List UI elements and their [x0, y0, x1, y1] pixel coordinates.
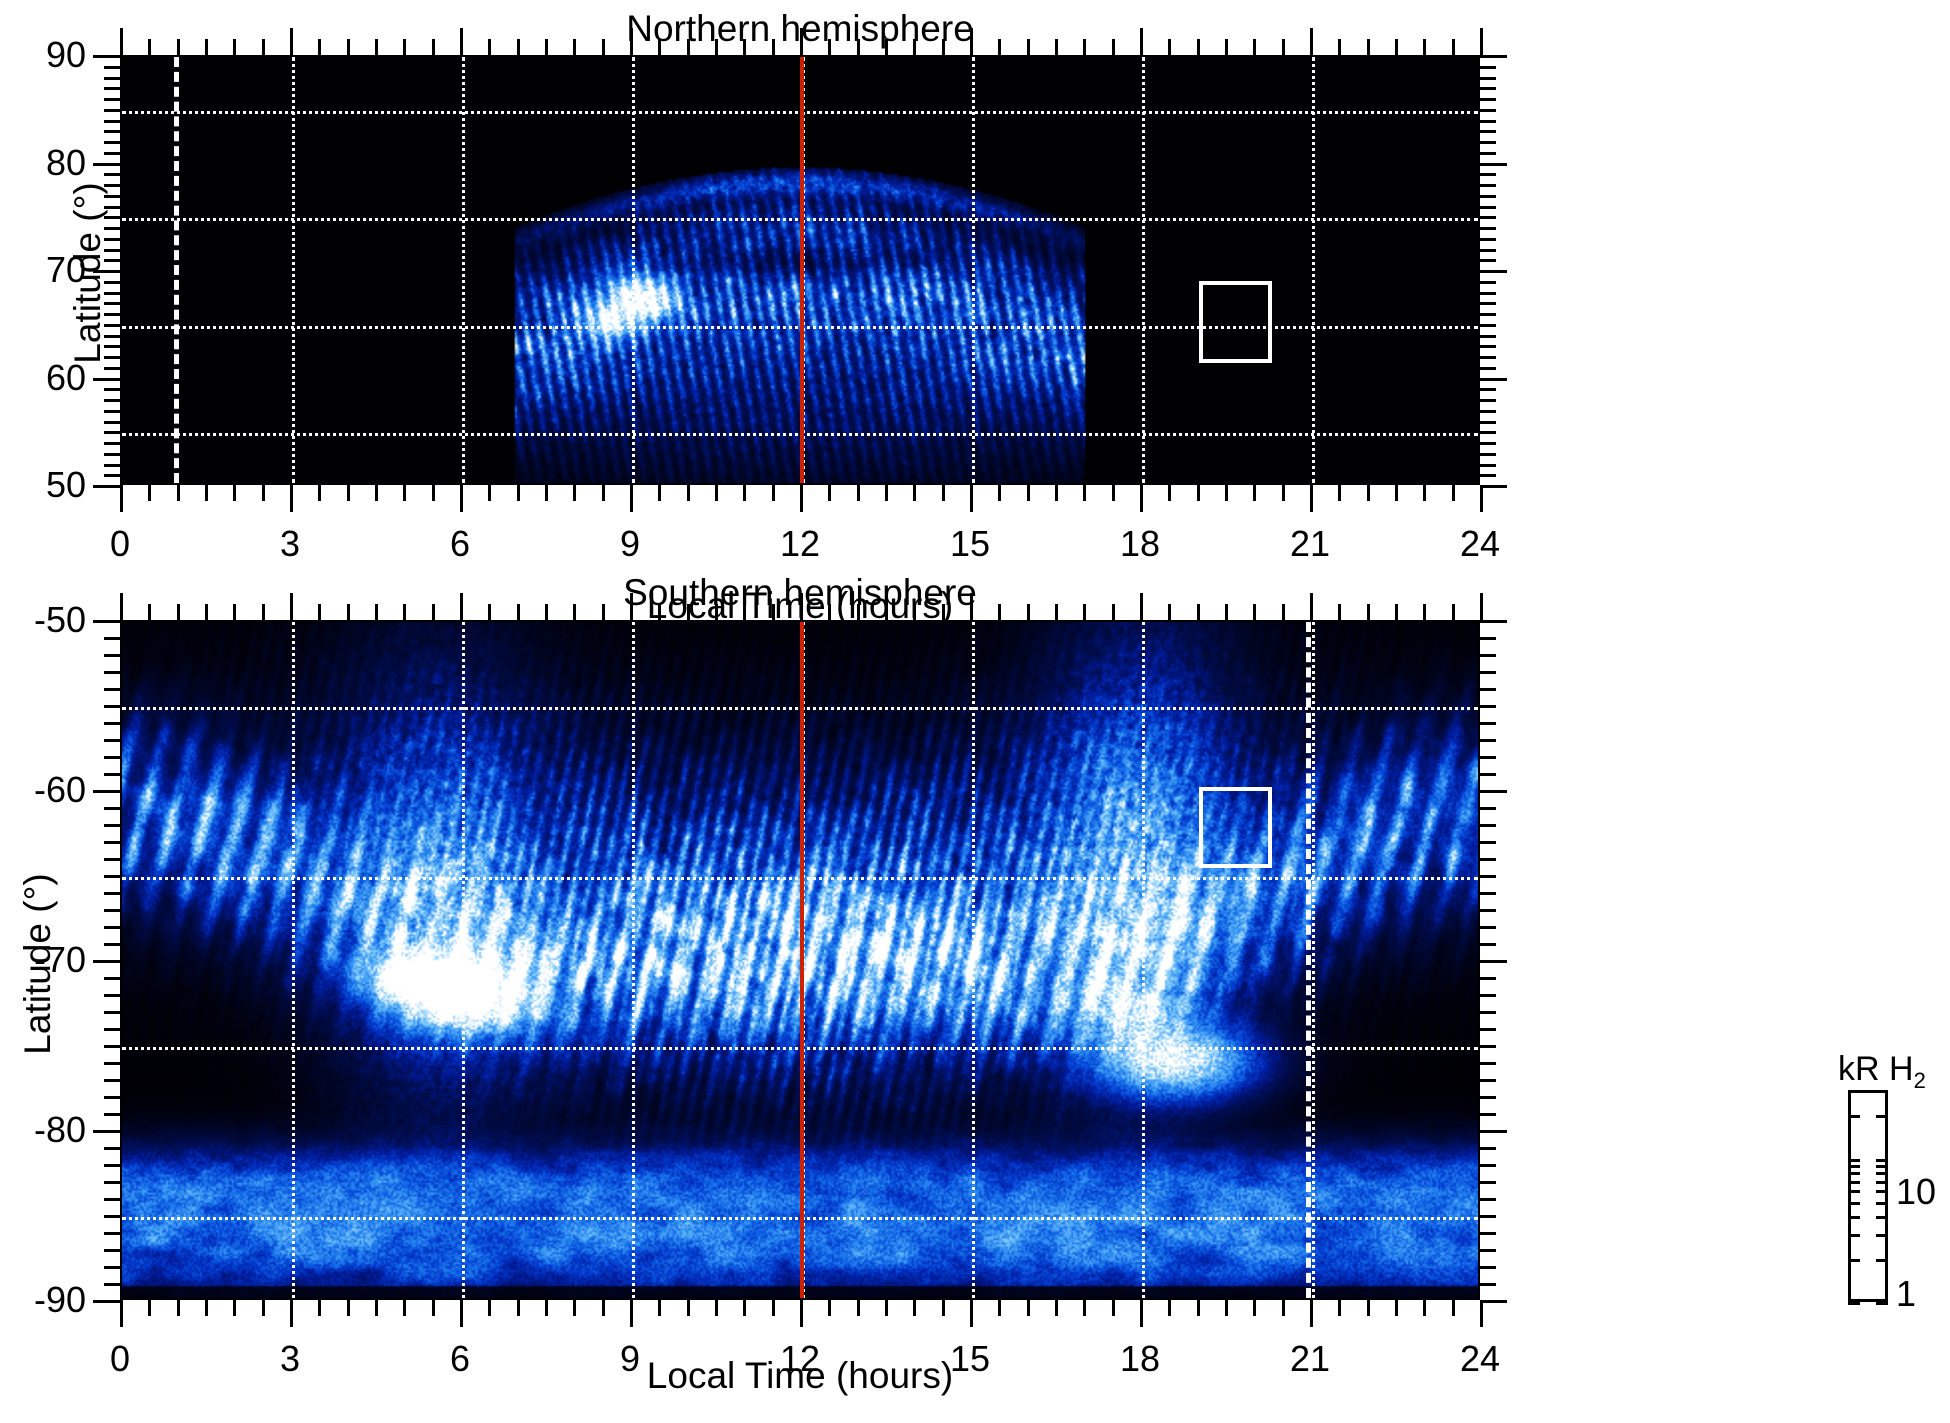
- xaxis-tick-bottom: [1310, 485, 1313, 512]
- yaxis-tick-right: [1480, 313, 1496, 316]
- yaxis-tick-label: -60: [0, 769, 86, 811]
- xaxis-tick-bottom: [1055, 485, 1058, 501]
- yaxis-tick-left: [104, 1283, 120, 1286]
- xaxis-tick-bottom: [1480, 1300, 1483, 1327]
- xaxis-tick-bottom: [545, 485, 548, 501]
- yaxis-tick-left: [104, 926, 120, 929]
- yaxis-tick-right: [1480, 335, 1496, 338]
- yaxis-tick-left: [104, 892, 120, 895]
- xaxis-tick-bottom: [1480, 485, 1483, 512]
- yaxis-tick-label: 60: [0, 357, 86, 399]
- yaxis-tick-right: [1480, 163, 1507, 166]
- xaxis-tick-bottom: [1168, 1300, 1171, 1316]
- xaxis-tick-bottom: [743, 485, 746, 501]
- yaxis-tick-right: [1480, 739, 1496, 742]
- yaxis-tick-right: [1480, 431, 1496, 434]
- yaxis-tick-left: [104, 1266, 120, 1269]
- xaxis-tick-bottom: [1083, 1300, 1086, 1316]
- xaxis-tick-bottom: [1253, 485, 1256, 501]
- yaxis-tick-left: [104, 474, 120, 477]
- xaxis-tick-bottom: [998, 485, 1001, 501]
- yaxis-tick-label: -80: [0, 1109, 86, 1151]
- yaxis-tick-left: [104, 1164, 120, 1167]
- colorbar-minor-tick: [1848, 1234, 1860, 1237]
- yaxis-tick-right: [1480, 292, 1496, 295]
- yaxis-tick-right: [1480, 378, 1507, 381]
- yaxis-tick-left: [104, 773, 120, 776]
- colorbar-minor-tick: [1876, 1202, 1888, 1205]
- colorbar-title-subscript: 2: [1914, 1068, 1926, 1093]
- xaxis-tick-bottom: [120, 485, 123, 512]
- xaxis-tick-bottom: [800, 1300, 803, 1327]
- colorbar-minor-tick: [1876, 1234, 1888, 1237]
- yaxis-tick-right: [1480, 875, 1496, 878]
- xaxis-tick-bottom: [913, 1300, 916, 1316]
- yaxis-tick-right: [1480, 442, 1496, 445]
- yaxis-tick-right: [1480, 909, 1496, 912]
- xaxis-tick-bottom: [1423, 485, 1426, 501]
- yaxis-tick-label: -50: [0, 599, 86, 641]
- xaxis-tick-bottom: [1112, 485, 1115, 501]
- yaxis-tick-left: [93, 485, 120, 488]
- xaxis-tick-bottom: [1367, 1300, 1370, 1316]
- yaxis-tick-left: [104, 977, 120, 980]
- yaxis-tick-right: [1480, 388, 1496, 391]
- colorbar-minor-tick: [1876, 1216, 1888, 1219]
- xaxis-tick-bottom: [828, 485, 831, 501]
- colorbar-minor-tick: [1848, 1259, 1860, 1262]
- yaxis-tick-left: [104, 77, 120, 80]
- yaxis-tick-left: [104, 841, 120, 844]
- xaxis-tick-bottom: [942, 485, 945, 501]
- southern-plot-area: [120, 620, 1480, 1300]
- yaxis-tick-right: [1480, 705, 1496, 708]
- xaxis-tick-bottom: [1055, 1300, 1058, 1316]
- colorbar-minor-tick: [1848, 1216, 1860, 1219]
- yaxis-tick-left: [104, 431, 120, 434]
- xaxis-tick-label: 12: [780, 523, 820, 565]
- xaxis-tick-bottom: [1197, 1300, 1200, 1316]
- yaxis-tick-left: [104, 637, 120, 640]
- xaxis-tick-bottom: [205, 485, 208, 501]
- northern-panel-title: Northern hemisphere: [120, 8, 1480, 50]
- xaxis-tick-bottom: [262, 1300, 265, 1316]
- xaxis-tick-bottom: [1395, 485, 1398, 501]
- xaxis-tick-label: 21: [1290, 523, 1330, 565]
- yaxis-tick-right: [1480, 1062, 1496, 1065]
- yaxis-tick-right: [1480, 367, 1496, 370]
- xaxis-tick-bottom: [857, 485, 860, 501]
- yaxis-tick-right: [1480, 206, 1496, 209]
- gridline-vertical: [1142, 57, 1145, 483]
- yaxis-tick-right: [1480, 66, 1496, 69]
- xaxis-tick-bottom: [1027, 485, 1030, 501]
- xaxis-tick-bottom: [375, 1300, 378, 1316]
- xaxis-tick-bottom: [1282, 485, 1285, 501]
- xaxis-tick-label: 24: [1460, 523, 1500, 565]
- xaxis-tick-bottom: [630, 485, 633, 512]
- xaxis-tick-bottom: [318, 1300, 321, 1316]
- yaxis-tick-right: [1480, 841, 1496, 844]
- colorbar-minor-tick: [1848, 1190, 1860, 1193]
- yaxis-tick-right: [1480, 399, 1496, 402]
- xaxis-tick-bottom: [715, 1300, 718, 1316]
- xaxis-tick-label: 9: [620, 1338, 640, 1380]
- gridline-vertical: [972, 622, 975, 1298]
- yaxis-tick-right: [1480, 824, 1496, 827]
- yaxis-tick-right: [1480, 130, 1496, 133]
- xaxis-tick-bottom: [403, 1300, 406, 1316]
- yaxis-tick-left: [104, 1096, 120, 1099]
- yaxis-tick-right: [1480, 977, 1496, 980]
- colorbar-minor-tick: [1876, 1159, 1888, 1162]
- yaxis-tick-right: [1480, 790, 1507, 793]
- colorbar-label-10: 10: [1896, 1171, 1936, 1213]
- xaxis-tick-bottom: [1083, 485, 1086, 501]
- colorbar-minor-tick: [1876, 1259, 1888, 1262]
- yaxis-tick-right: [1480, 87, 1496, 90]
- xaxis-tick-bottom: [290, 485, 293, 512]
- colorbar-title-sub-wrap: 2: [1914, 1050, 1926, 1088]
- yaxis-tick-left: [93, 620, 120, 623]
- yaxis-tick-right: [1480, 55, 1507, 58]
- xaxis-tick-bottom: [1168, 485, 1171, 501]
- region-of-interest-box: [1199, 787, 1273, 869]
- yaxis-tick-right: [1480, 1045, 1496, 1048]
- xaxis-tick-bottom: [772, 1300, 775, 1316]
- yaxis-tick-right: [1480, 238, 1496, 241]
- colorbar-minor-tick: [1848, 1115, 1860, 1118]
- yaxis-tick-left: [93, 790, 120, 793]
- yaxis-tick-right: [1480, 109, 1496, 112]
- yaxis-tick-left: [104, 1147, 120, 1150]
- yaxis-tick-right: [1480, 474, 1496, 477]
- yaxis-tick-label: 90: [0, 34, 86, 76]
- xaxis-tick-bottom: [347, 1300, 350, 1316]
- yaxis-tick-right: [1480, 1079, 1496, 1082]
- xaxis-tick-bottom: [262, 485, 265, 501]
- xaxis-tick-bottom: [630, 1300, 633, 1327]
- yaxis-tick-left: [104, 1232, 120, 1235]
- colorbar-minor-tick: [1876, 1172, 1888, 1175]
- northern-plot-area: [120, 55, 1480, 485]
- colorbar-label-1: 1: [1896, 1273, 1916, 1315]
- yaxis-tick-right: [1480, 1113, 1496, 1116]
- xaxis-tick-bottom: [177, 1300, 180, 1316]
- yaxis-tick-right: [1480, 926, 1496, 929]
- xaxis-tick-label: 3: [280, 523, 300, 565]
- xaxis-tick-bottom: [432, 485, 435, 501]
- xaxis-tick-bottom: [1225, 485, 1228, 501]
- yaxis-tick-right: [1480, 270, 1507, 273]
- colorbar-title-text: kR H: [1838, 1050, 1914, 1088]
- yaxis-tick-right: [1480, 453, 1496, 456]
- yaxis-tick-right: [1480, 345, 1496, 348]
- gridline-vertical: [292, 57, 295, 483]
- xaxis-tick-bottom: [347, 485, 350, 501]
- xaxis-tick-bottom: [942, 1300, 945, 1316]
- xaxis-tick-label: 6: [450, 523, 470, 565]
- yaxis-tick-right: [1480, 281, 1496, 284]
- yaxis-tick-right: [1480, 195, 1496, 198]
- colorbar-ticks: [1848, 1090, 1888, 1302]
- xaxis-tick-bottom: [772, 485, 775, 501]
- xaxis-tick-label: 15: [950, 1338, 990, 1380]
- yaxis-tick-left: [104, 688, 120, 691]
- figure-root: Northern hemisphere Local Time (hours) L…: [0, 0, 1950, 1423]
- yaxis-tick-left: [104, 739, 120, 742]
- terminator-dashed-line: [174, 57, 179, 483]
- xaxis-tick-label: 24: [1460, 1338, 1500, 1380]
- yaxis-tick-left: [104, 943, 120, 946]
- yaxis-tick-right: [1480, 671, 1496, 674]
- yaxis-tick-right: [1480, 184, 1496, 187]
- yaxis-tick-right: [1480, 1028, 1496, 1031]
- xaxis-tick-label: 0: [110, 1338, 130, 1380]
- xaxis-tick-bottom: [177, 485, 180, 501]
- xaxis-tick-bottom: [658, 1300, 661, 1316]
- xaxis-tick-bottom: [998, 1300, 1001, 1316]
- yaxis-tick-left: [104, 671, 120, 674]
- xaxis-tick-label: 18: [1120, 523, 1160, 565]
- yaxis-tick-left: [104, 756, 120, 759]
- xaxis-tick-label: 6: [450, 1338, 470, 1380]
- xaxis-tick-label: 9: [620, 523, 640, 565]
- xaxis-tick-bottom: [885, 1300, 888, 1316]
- yaxis-tick-left: [104, 1028, 120, 1031]
- yaxis-tick-left: [104, 1181, 120, 1184]
- yaxis-tick-right: [1480, 807, 1496, 810]
- yaxis-tick-label: -70: [0, 939, 86, 981]
- colorbar-minor-tick: [1848, 1181, 1860, 1184]
- yaxis-tick-right: [1480, 1011, 1496, 1014]
- xaxis-tick-bottom: [403, 485, 406, 501]
- yaxis-tick-right: [1480, 688, 1496, 691]
- xaxis-tick-label: 18: [1120, 1338, 1160, 1380]
- xaxis-tick-bottom: [1253, 1300, 1256, 1316]
- xaxis-tick-bottom: [375, 485, 378, 501]
- xaxis-tick-bottom: [885, 485, 888, 501]
- xaxis-tick-bottom: [970, 1300, 973, 1327]
- yaxis-tick-right: [1480, 259, 1496, 262]
- yaxis-tick-left: [104, 858, 120, 861]
- yaxis-tick-right: [1480, 77, 1496, 80]
- yaxis-tick-left: [104, 464, 120, 467]
- xaxis-tick-bottom: [1197, 485, 1200, 501]
- yaxis-tick-left: [104, 453, 120, 456]
- xaxis-tick-bottom: [517, 485, 520, 501]
- yaxis-tick-right: [1480, 722, 1496, 725]
- colorbar-minor-tick: [1848, 1172, 1860, 1175]
- xaxis-tick-bottom: [573, 485, 576, 501]
- colorbar-minor-tick: [1876, 1302, 1888, 1305]
- region-of-interest-box: [1199, 281, 1273, 364]
- xaxis-tick-bottom: [602, 485, 605, 501]
- xaxis-tick-label: 21: [1290, 1338, 1330, 1380]
- colorbar-minor-tick: [1876, 1090, 1888, 1093]
- gridline-vertical: [462, 622, 465, 1298]
- yaxis-tick-right: [1480, 1130, 1507, 1133]
- yaxis-tick-left: [104, 1113, 120, 1116]
- yaxis-tick-left: [93, 960, 120, 963]
- xaxis-tick-bottom: [1310, 1300, 1313, 1327]
- xaxis-tick-bottom: [488, 485, 491, 501]
- yaxis-tick-right: [1480, 943, 1496, 946]
- yaxis-tick-left: [104, 98, 120, 101]
- yaxis-tick-right: [1480, 1198, 1496, 1201]
- xaxis-tick-bottom: [800, 485, 803, 512]
- colorbar-minor-tick: [1848, 1202, 1860, 1205]
- yaxis-tick-right: [1480, 1249, 1496, 1252]
- yaxis-tick-right: [1480, 773, 1496, 776]
- yaxis-tick-left: [104, 66, 120, 69]
- xaxis-tick-bottom: [1338, 485, 1341, 501]
- yaxis-tick-left: [104, 909, 120, 912]
- xaxis-tick-bottom: [573, 1300, 576, 1316]
- yaxis-tick-left: [104, 807, 120, 810]
- xaxis-tick-bottom: [602, 1300, 605, 1316]
- xaxis-tick-label: 12: [780, 1338, 820, 1380]
- xaxis-tick-bottom: [148, 485, 151, 501]
- yaxis-tick-left: [104, 654, 120, 657]
- xaxis-tick-label: 15: [950, 523, 990, 565]
- yaxis-tick-label: 80: [0, 142, 86, 184]
- yaxis-tick-left: [104, 824, 120, 827]
- xaxis-tick-bottom: [1338, 1300, 1341, 1316]
- xaxis-tick-bottom: [460, 1300, 463, 1327]
- yaxis-tick-right: [1480, 858, 1496, 861]
- yaxis-tick-left: [104, 442, 120, 445]
- noon-meridian-line: [800, 622, 804, 1298]
- gridline-vertical: [1142, 622, 1145, 1298]
- yaxis-tick-right: [1480, 464, 1496, 467]
- gridline-vertical: [462, 57, 465, 483]
- yaxis-tick-right: [1480, 227, 1496, 230]
- yaxis-tick-left: [104, 87, 120, 90]
- noon-meridian-line: [800, 57, 804, 483]
- yaxis-tick-left: [93, 1130, 120, 1133]
- xaxis-tick-bottom: [1452, 485, 1455, 501]
- yaxis-tick-right: [1480, 152, 1496, 155]
- xaxis-tick-bottom: [715, 485, 718, 501]
- gridline-vertical: [292, 622, 295, 1298]
- xaxis-tick-bottom: [432, 1300, 435, 1316]
- xaxis-tick-bottom: [913, 485, 916, 501]
- xaxis-tick-bottom: [205, 1300, 208, 1316]
- xaxis-tick-bottom: [1140, 485, 1143, 512]
- yaxis-tick-left: [104, 875, 120, 878]
- yaxis-tick-right: [1480, 1147, 1496, 1150]
- xaxis-tick-bottom: [233, 1300, 236, 1316]
- xaxis-tick-top: [1480, 28, 1483, 55]
- yaxis-tick-left: [104, 1045, 120, 1048]
- xaxis-tick-bottom: [233, 485, 236, 501]
- yaxis-tick-right: [1480, 637, 1496, 640]
- yaxis-tick-right: [1480, 1266, 1496, 1269]
- colorbar-minor-tick: [1848, 1159, 1860, 1162]
- yaxis-tick-right: [1480, 1232, 1496, 1235]
- colorbar-title: kR H2: [1838, 1050, 1926, 1094]
- yaxis-tick-left: [104, 1011, 120, 1014]
- xaxis-tick-bottom: [318, 485, 321, 501]
- yaxis-tick-right: [1480, 1164, 1496, 1167]
- xaxis-tick-bottom: [687, 1300, 690, 1316]
- colorbar-minor-tick: [1876, 1115, 1888, 1118]
- colorbar-minor-tick: [1848, 1302, 1860, 1305]
- xaxis-tick-bottom: [857, 1300, 860, 1316]
- xaxis-tick-label: 3: [280, 1338, 300, 1380]
- colorbar-minor-tick: [1876, 1181, 1888, 1184]
- gridline-vertical: [1312, 622, 1315, 1298]
- yaxis-tick-right: [1480, 173, 1496, 176]
- yaxis-tick-right: [1480, 892, 1496, 895]
- yaxis-tick-label: 70: [0, 249, 86, 291]
- gridline-vertical: [632, 57, 635, 483]
- yaxis-tick-right: [1480, 1215, 1496, 1218]
- yaxis-tick-right: [1480, 1096, 1496, 1099]
- yaxis-tick-left: [104, 1249, 120, 1252]
- yaxis-tick-right: [1480, 356, 1496, 359]
- yaxis-tick-left: [93, 1300, 120, 1303]
- xaxis-tick-bottom: [1282, 1300, 1285, 1316]
- yaxis-tick-right: [1480, 994, 1496, 997]
- xaxis-tick-bottom: [148, 1300, 151, 1316]
- xaxis-tick-bottom: [1395, 1300, 1398, 1316]
- yaxis-tick-left: [93, 55, 120, 58]
- yaxis-tick-right: [1480, 141, 1496, 144]
- xaxis-tick-bottom: [1367, 485, 1370, 501]
- yaxis-tick-left: [104, 1079, 120, 1082]
- yaxis-tick-right: [1480, 1300, 1507, 1303]
- yaxis-tick-right: [1480, 485, 1507, 488]
- xaxis-tick-bottom: [545, 1300, 548, 1316]
- yaxis-tick-right: [1480, 620, 1507, 623]
- xaxis-tick-bottom: [1225, 1300, 1228, 1316]
- yaxis-tick-right: [1480, 216, 1496, 219]
- colorbar: [1848, 1090, 1888, 1302]
- yaxis-tick-right: [1480, 410, 1496, 413]
- yaxis-tick-right: [1480, 1283, 1496, 1286]
- xaxis-tick-bottom: [1452, 1300, 1455, 1316]
- xaxis-tick-bottom: [828, 1300, 831, 1316]
- southern-panel-title: Southern hemisphere: [120, 572, 1480, 614]
- xaxis-tick-top: [1480, 593, 1483, 620]
- yaxis-tick-left: [104, 994, 120, 997]
- terminator-dashed-line: [1306, 622, 1311, 1298]
- xaxis-tick-bottom: [1027, 1300, 1030, 1316]
- xaxis-tick-bottom: [1140, 1300, 1143, 1327]
- yaxis-tick-right: [1480, 421, 1496, 424]
- yaxis-tick-right: [1480, 249, 1496, 252]
- gridline-vertical: [632, 622, 635, 1298]
- yaxis-tick-left: [104, 1198, 120, 1201]
- xaxis-tick-bottom: [460, 485, 463, 512]
- yaxis-tick-left: [104, 109, 120, 112]
- yaxis-tick-right: [1480, 756, 1496, 759]
- colorbar-minor-tick: [1848, 1165, 1860, 1168]
- yaxis-tick-right: [1480, 1181, 1496, 1184]
- yaxis-tick-left: [104, 1215, 120, 1218]
- colorbar-minor-tick: [1876, 1190, 1888, 1193]
- yaxis-tick-left: [104, 722, 120, 725]
- colorbar-minor-tick: [1876, 1165, 1888, 1168]
- yaxis-tick-right: [1480, 324, 1496, 327]
- yaxis-tick-right: [1480, 98, 1496, 101]
- yaxis-tick-left: [104, 1062, 120, 1065]
- yaxis-tick-right: [1480, 120, 1496, 123]
- xaxis-tick-bottom: [1423, 1300, 1426, 1316]
- xaxis-tick-bottom: [970, 485, 973, 512]
